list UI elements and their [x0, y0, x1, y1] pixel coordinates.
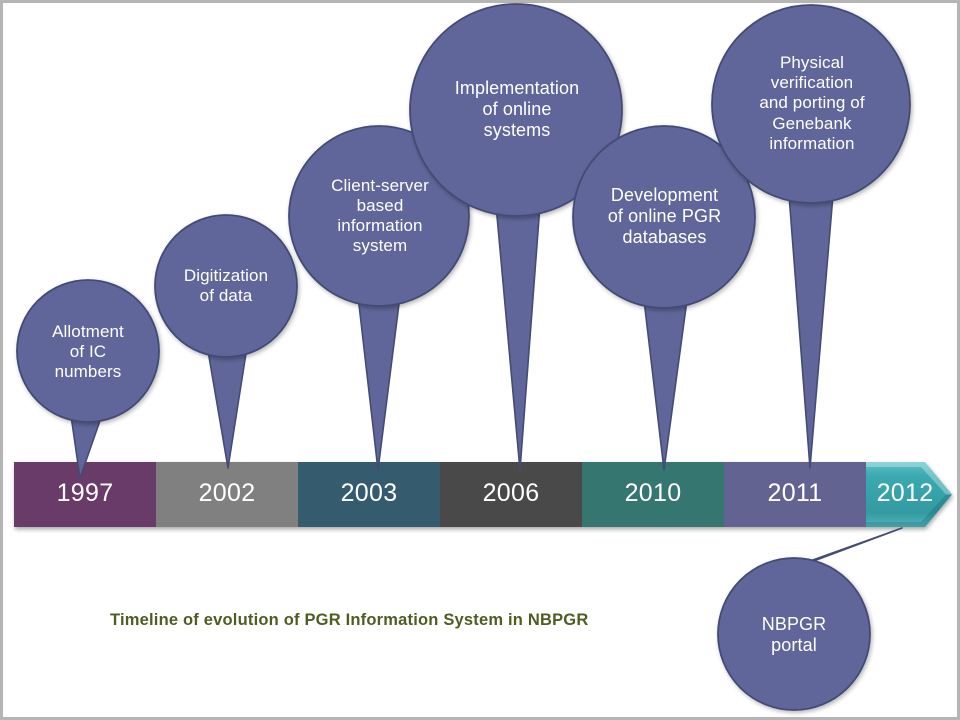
- balloon-digitization[interactable]: [155, 215, 297, 357]
- diagram-caption: Timeline of evolution of PGR Information…: [110, 611, 588, 630]
- balloon-physical-verif[interactable]: [712, 5, 910, 203]
- year-label-2012: 2012: [866, 481, 944, 506]
- year-label-2003: 2003: [298, 481, 440, 506]
- tail-2011: [789, 195, 833, 468]
- balloon-allotment[interactable]: [17, 280, 159, 422]
- year-label-2002: 2002: [156, 481, 298, 506]
- year-label-2011: 2011: [724, 481, 866, 506]
- tail-2003: [358, 296, 400, 470]
- year-label-2006: 2006: [440, 481, 582, 506]
- year-label-1997: 1997: [14, 481, 156, 506]
- year-label-2010: 2010: [582, 481, 724, 506]
- tail-2006: [496, 205, 540, 470]
- tail-2002: [207, 345, 247, 468]
- tail-2010: [644, 300, 687, 470]
- balloon-circles: [17, 4, 910, 710]
- timeline-diagram: Allotment of IC numbers Digitization of …: [0, 0, 960, 720]
- balloon-nbpgr-portal[interactable]: [718, 558, 870, 710]
